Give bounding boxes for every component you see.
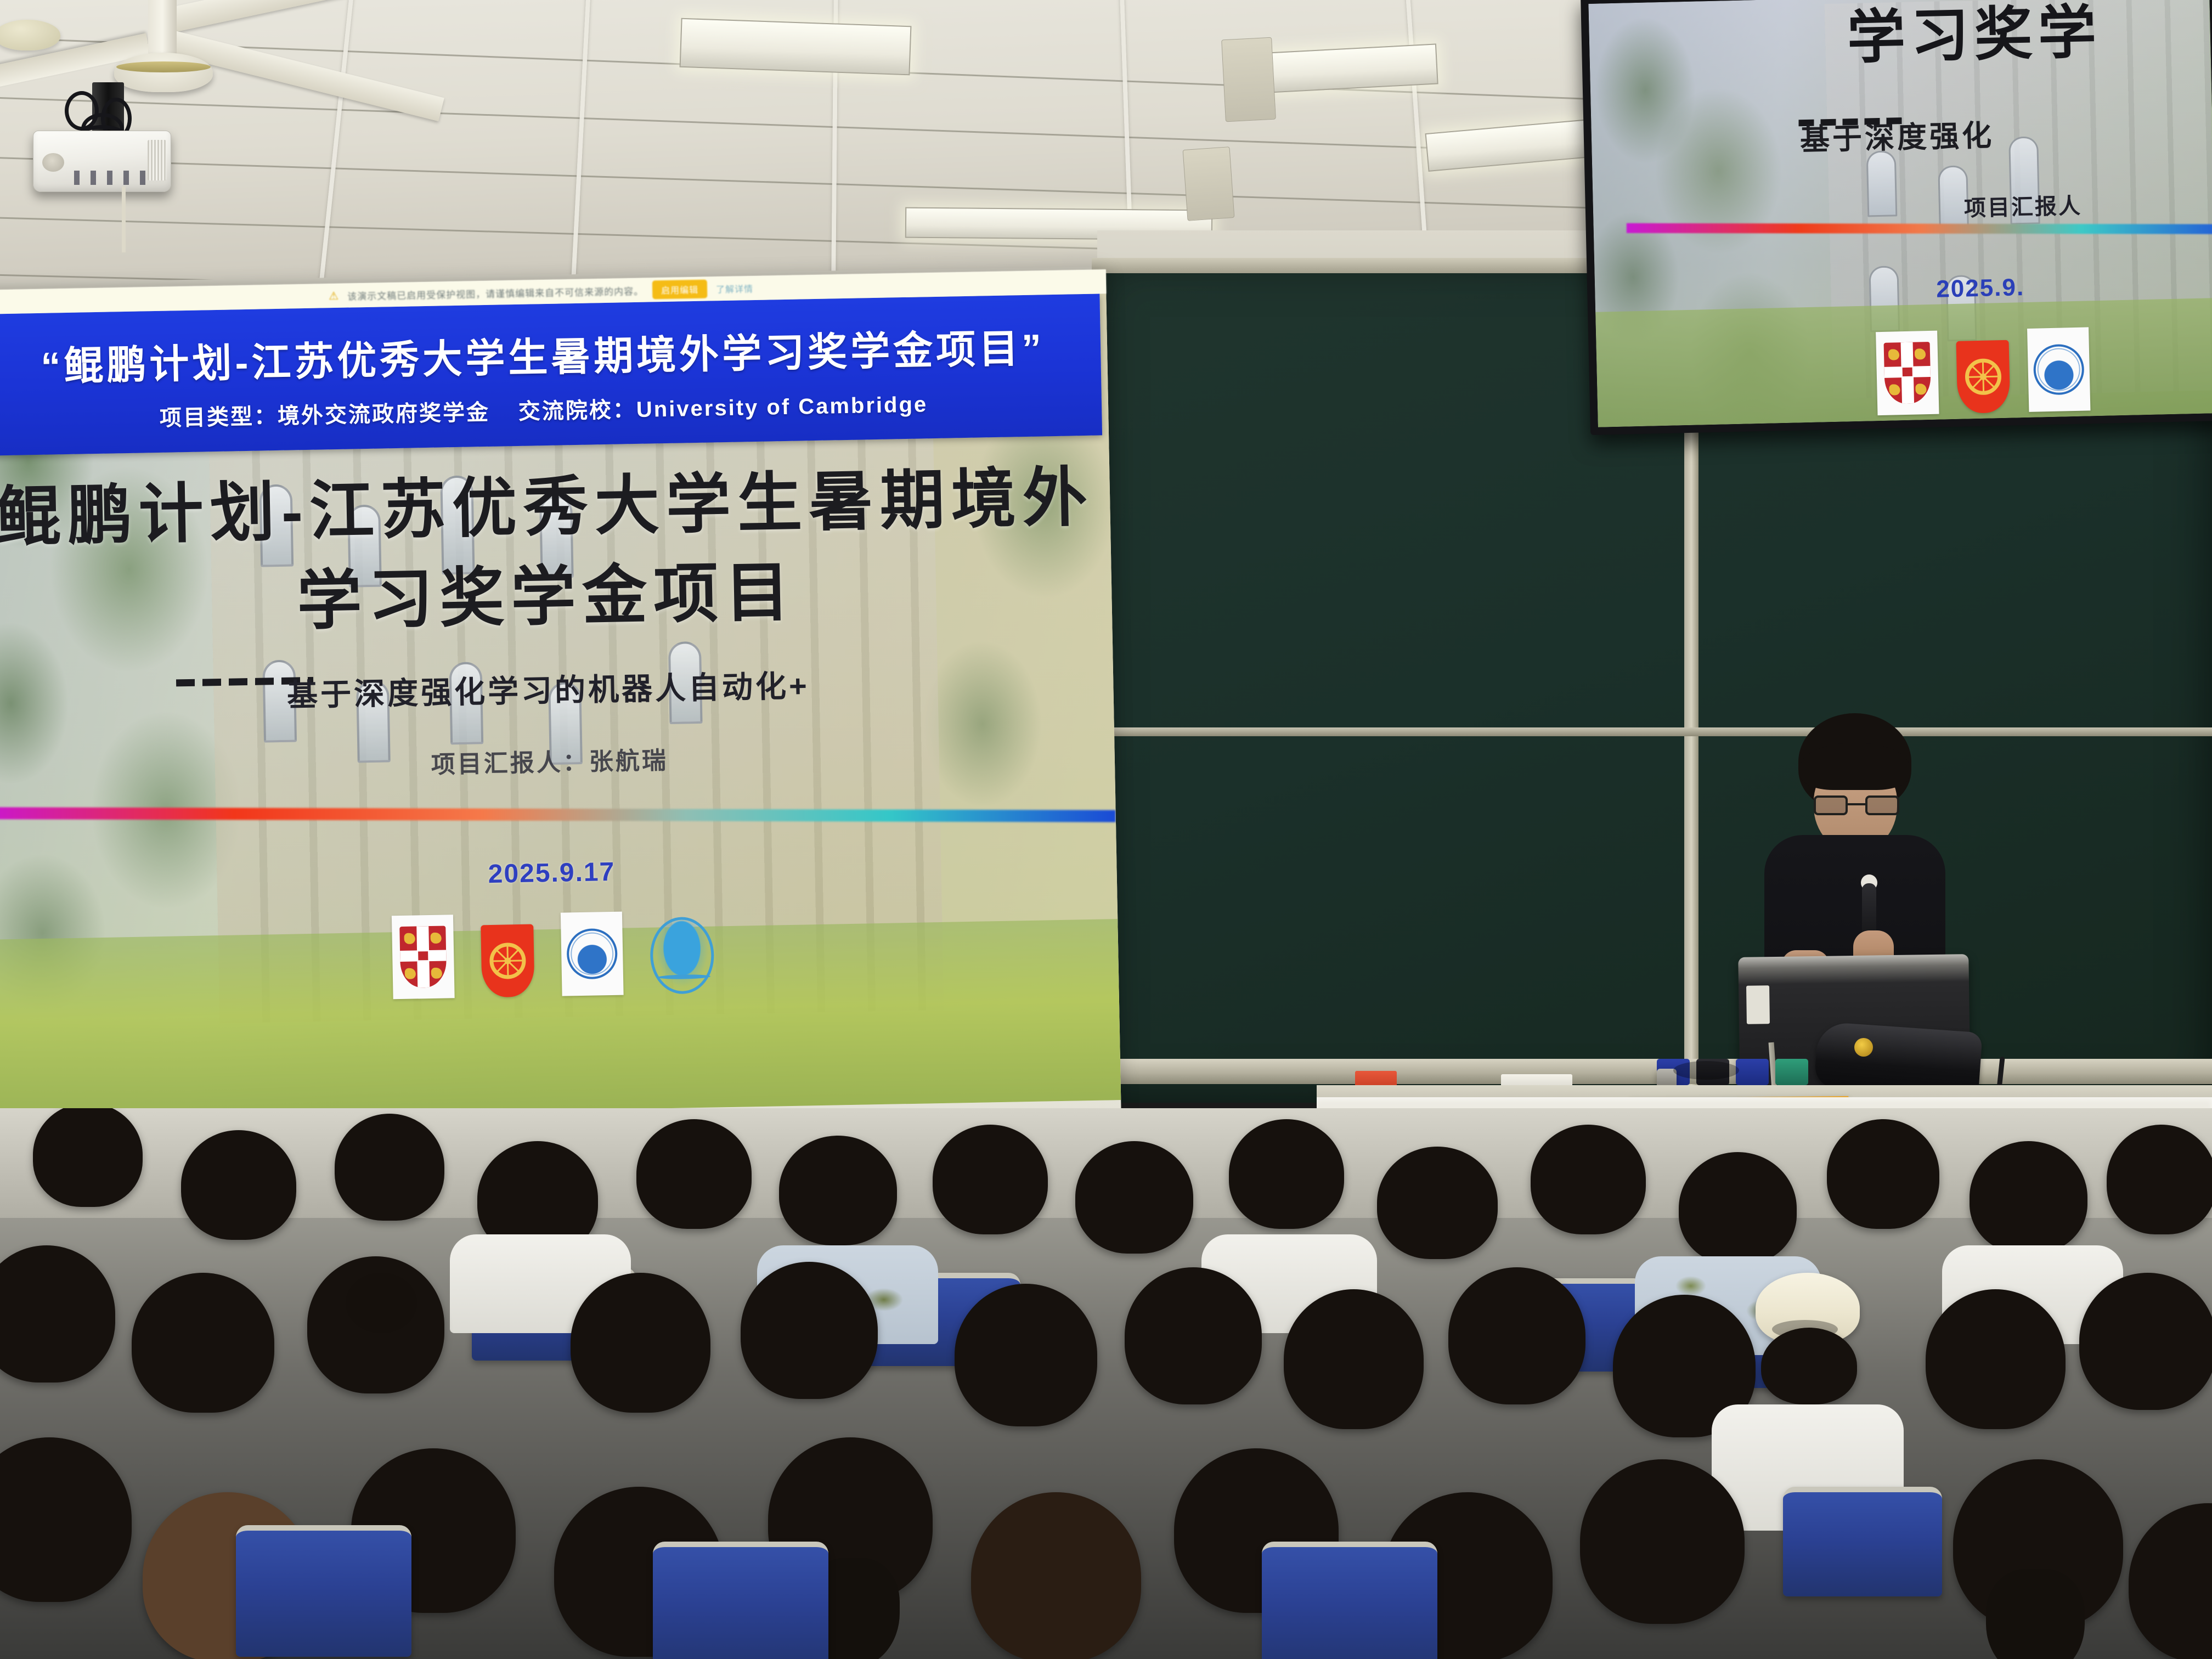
smoke-detector (0, 20, 60, 50)
display-title: 学习奖学 (1846, 0, 2212, 75)
audience-head (571, 1273, 710, 1413)
enable-editing-button[interactable]: 启用编辑 (652, 280, 708, 300)
audience-head (33, 1108, 143, 1207)
projection-surface: ⚠ 该演示文稿已启用受保护视图，请谨慎编辑来自不可信来源的内容。 启用编辑 了解… (0, 269, 1121, 1145)
audience-hair-bun (346, 1273, 417, 1333)
microphone-knob (1854, 1038, 1873, 1057)
audience-head (1679, 1152, 1797, 1265)
audience-head (636, 1119, 752, 1229)
slide-banner-program-type: 项目类型：境外交流政府奖学金 (159, 394, 490, 432)
audience-ponytail (1986, 1569, 2085, 1659)
audience-head (779, 1136, 897, 1245)
projector-lens (42, 153, 64, 172)
audience-head (0, 1437, 132, 1602)
audience-head (1377, 1147, 1498, 1259)
chalkboard-ledge (1092, 1059, 2212, 1084)
projection-screen: ⚠ 该演示文稿已启用受保护视图，请谨慎编辑来自不可信来源的内容。 启用编辑 了解… (0, 269, 1121, 1145)
ceiling-projector (33, 131, 171, 192)
chalkboard-erasers (1657, 1059, 1808, 1085)
wall-mounted-display: 学习奖学 基于深度强化 项目汇报人 2025.9. (1581, 0, 2212, 435)
warning-triangle-icon: ⚠ (329, 289, 338, 302)
ceiling-light-fixture (1255, 43, 1438, 93)
ceiling-light-fixture (680, 18, 912, 76)
audience-head (971, 1492, 1141, 1659)
projector-vent (148, 140, 166, 180)
slide-title: 鲲鹏计划-江苏优秀大学生暑期境外 学习奖学金项目 (0, 453, 1113, 652)
audience-head (1448, 1267, 1585, 1404)
audience-head (335, 1114, 444, 1221)
lecture-chair (1783, 1487, 1942, 1596)
learn-more-link[interactable]: 了解详情 (716, 281, 753, 295)
notification-message: 该演示文稿已启用受保护视图，请谨慎编辑来自不可信来源的内容。 (347, 283, 644, 302)
lecture-chair (1262, 1542, 1437, 1659)
display-screen: 学习奖学 基于深度强化 项目汇报人 2025.9. (1588, 0, 2212, 427)
audience-head (0, 1245, 115, 1383)
ceiling-vent (1221, 37, 1276, 122)
slide-banner: “鲲鹏计划-江苏优秀大学生暑期境外学习奖学金项目” 项目类型：境外交流政府奖学金… (0, 294, 1102, 455)
ceiling-light-fixture (1425, 119, 1593, 172)
water-conservancy-logo-icon (650, 917, 715, 995)
audience-head (1125, 1267, 1262, 1404)
audience-head (1761, 1328, 1857, 1404)
audience-head (933, 1125, 1048, 1234)
eyeglasses-icon (1814, 795, 1899, 815)
audience-head (1970, 1141, 2087, 1254)
audience-head (1284, 1289, 1424, 1429)
audience-head (1229, 1119, 1344, 1229)
audience-head (132, 1273, 274, 1413)
audience-head (1827, 1119, 1939, 1229)
hohai-university-logo-icon (2027, 327, 2090, 412)
audience-head (2107, 1125, 2212, 1234)
audience-head (1075, 1141, 1193, 1254)
slide-banner-meta: 项目类型：境外交流政府奖学金 交流院校：University of Cambri… (159, 386, 928, 432)
presenter-fringe (1801, 743, 1909, 790)
audience-head (2129, 1503, 2212, 1659)
audience-head (955, 1284, 1097, 1426)
slide-banner-host-school: 交流院校：University of Cambridge (518, 386, 928, 426)
lecture-hall-photo: 学习奖学 基于深度强化 项目汇报人 2025.9. (0, 0, 2212, 1659)
lecture-chair (236, 1525, 411, 1657)
audience-head (1531, 1125, 1646, 1234)
projector-ports (67, 171, 150, 185)
display-presenter: 项目汇报人 (1963, 188, 2082, 223)
display-date: 2025.9. (1936, 274, 2025, 303)
audience-head (741, 1262, 878, 1399)
audience-head (2079, 1273, 2212, 1410)
ceiling-vent (1183, 146, 1235, 221)
hohai-university-logo-icon (561, 912, 624, 996)
audience-seating (0, 1108, 2212, 1659)
lecture-chair (653, 1542, 828, 1659)
cambridge-university-crest-icon (392, 915, 455, 999)
presentation-slide: “鲲鹏计划-江苏优秀大学生暑期境外学习奖学金项目” 项目类型：境外交流政府奖学金… (0, 294, 1121, 1121)
display-logo-row (1876, 327, 2090, 415)
display-gradient-rule (1627, 223, 2212, 234)
audience-head (181, 1130, 296, 1240)
st-catharines-college-crest-icon (481, 924, 534, 998)
projector-hang-tag (122, 187, 126, 252)
slide-banner-title: “鲲鹏计划-江苏优秀大学生暑期境外学习奖学金项目” (40, 315, 1045, 392)
audience-head (1580, 1459, 1745, 1624)
audience-head (1926, 1289, 2066, 1429)
cambridge-university-crest-icon (1876, 331, 1939, 416)
display-subtitle: 基于深度强化 (1799, 111, 1995, 159)
chalkboard-divider-horizontal (1092, 727, 2212, 736)
st-catharines-college-crest-icon (1956, 340, 2011, 414)
